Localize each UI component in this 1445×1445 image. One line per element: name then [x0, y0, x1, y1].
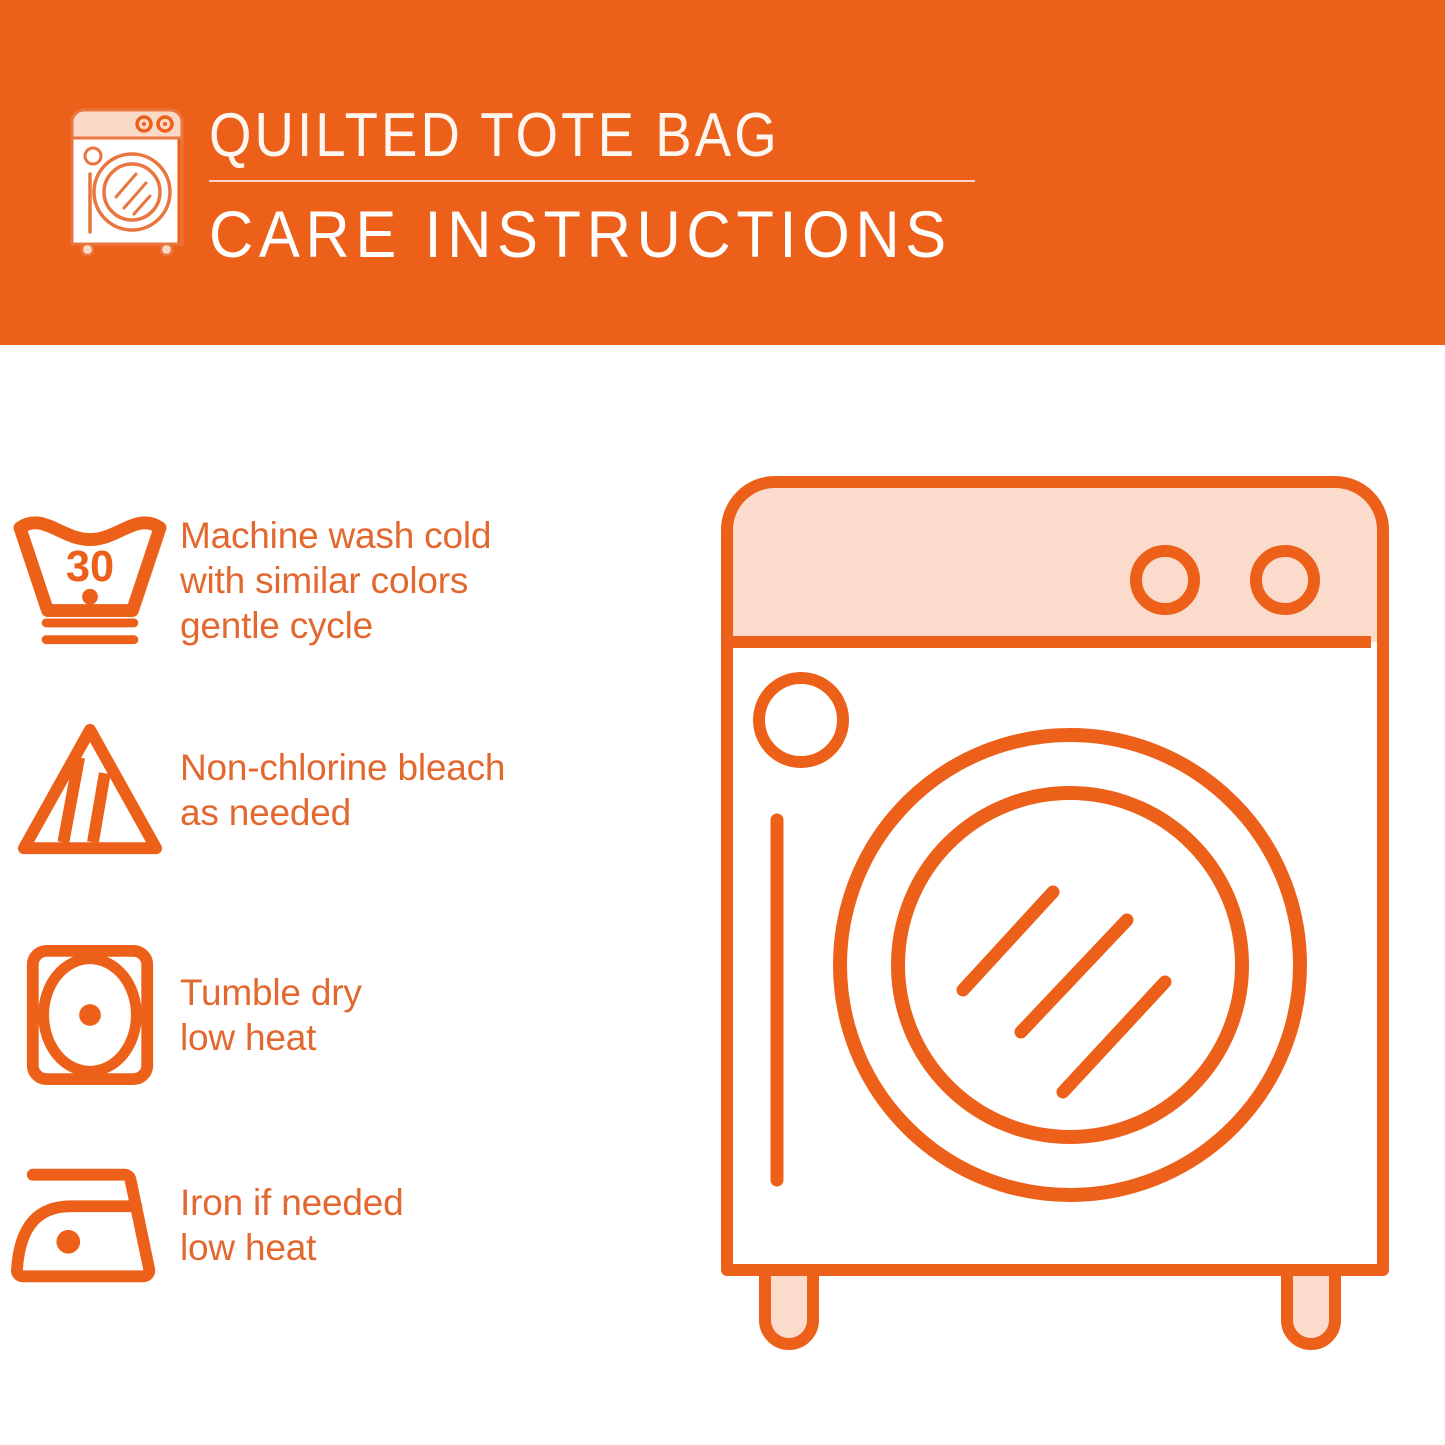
header-banner: QUILTED TOTE BAG CARE INSTRUCTIONS — [0, 0, 1445, 345]
page-title: QUILTED TOTE BAG — [209, 100, 913, 172]
wash-temp-label: 30 — [66, 543, 114, 591]
care-instructions-infographic: QUILTED TOTE BAG CARE INSTRUCTIONS 30 Ma… — [0, 0, 1445, 1445]
care-item-bleach: Non-chlorine bleach as needed — [0, 710, 700, 870]
header-title-block: QUILTED TOTE BAG CARE INSTRUCTIONS — [209, 100, 1009, 272]
care-instruction-list: 30 Machine wash cold with similar colors… — [0, 345, 700, 1445]
care-item-tumble-dry: Tumble dry low heat — [0, 935, 700, 1095]
iron-low-heat-icon — [0, 1151, 180, 1299]
washing-machine-illustration — [715, 470, 1395, 1370]
title-divider — [209, 180, 975, 182]
care-item-machine-wash: 30 Machine wash cold with similar colors… — [0, 495, 700, 665]
care-item-label: Machine wash cold with similar colors ge… — [180, 513, 491, 648]
washing-machine-icon — [66, 104, 188, 256]
care-item-label: Iron if needed low heat — [180, 1180, 403, 1270]
non-chlorine-bleach-triangle-icon — [0, 716, 180, 864]
tumble-dry-low-icon — [0, 941, 180, 1089]
wash-tub-30-icon: 30 — [0, 506, 180, 654]
care-item-label: Tumble dry low heat — [180, 970, 362, 1060]
care-item-label: Non-chlorine bleach as needed — [180, 745, 505, 835]
care-item-iron: Iron if needed low heat — [0, 1145, 700, 1305]
page-subtitle: CARE INSTRUCTIONS — [209, 196, 953, 272]
